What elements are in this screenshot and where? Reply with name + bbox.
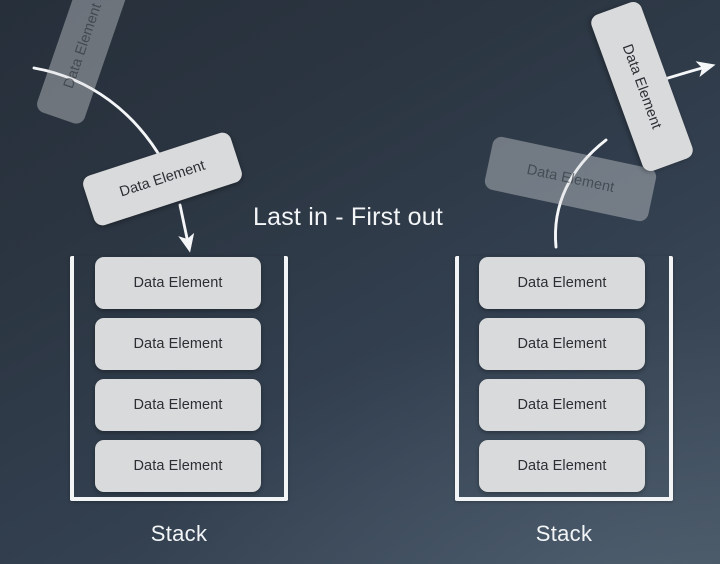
left-stack-item-4: Data Element [95,440,261,492]
left-push-arrow [180,205,188,243]
card-label: Data Element [133,397,222,413]
card-label: Data Element [517,397,606,413]
right-stack-label: Stack [455,521,673,547]
card-label: Data Element [133,336,222,352]
stack-diagram-canvas: Data Element Data Element Data Element D… [0,0,720,564]
card-label: Data Element [133,275,222,291]
card-label: Data Element [517,458,606,474]
diagram-title: Last in - First out [253,203,443,232]
card-label: Data Element [118,158,208,201]
card-label: Data Element [61,1,105,90]
left-stack-item-3: Data Element [95,379,261,431]
left-stack-label: Stack [70,521,288,547]
right-stack-item-4: Data Element [479,440,645,492]
right-stack-item-3: Data Element [479,379,645,431]
left-stack-item-1: Data Element [95,257,261,309]
right-stack-item-1: Data Element [479,257,645,309]
card-label: Data Element [517,336,606,352]
left-stack-item-2: Data Element [95,318,261,370]
card-label: Data Element [525,162,615,196]
card-label: Data Element [517,275,606,291]
card-label: Data Element [133,458,222,474]
right-stack-item-2: Data Element [479,318,645,370]
card-label: Data Element [619,42,664,131]
